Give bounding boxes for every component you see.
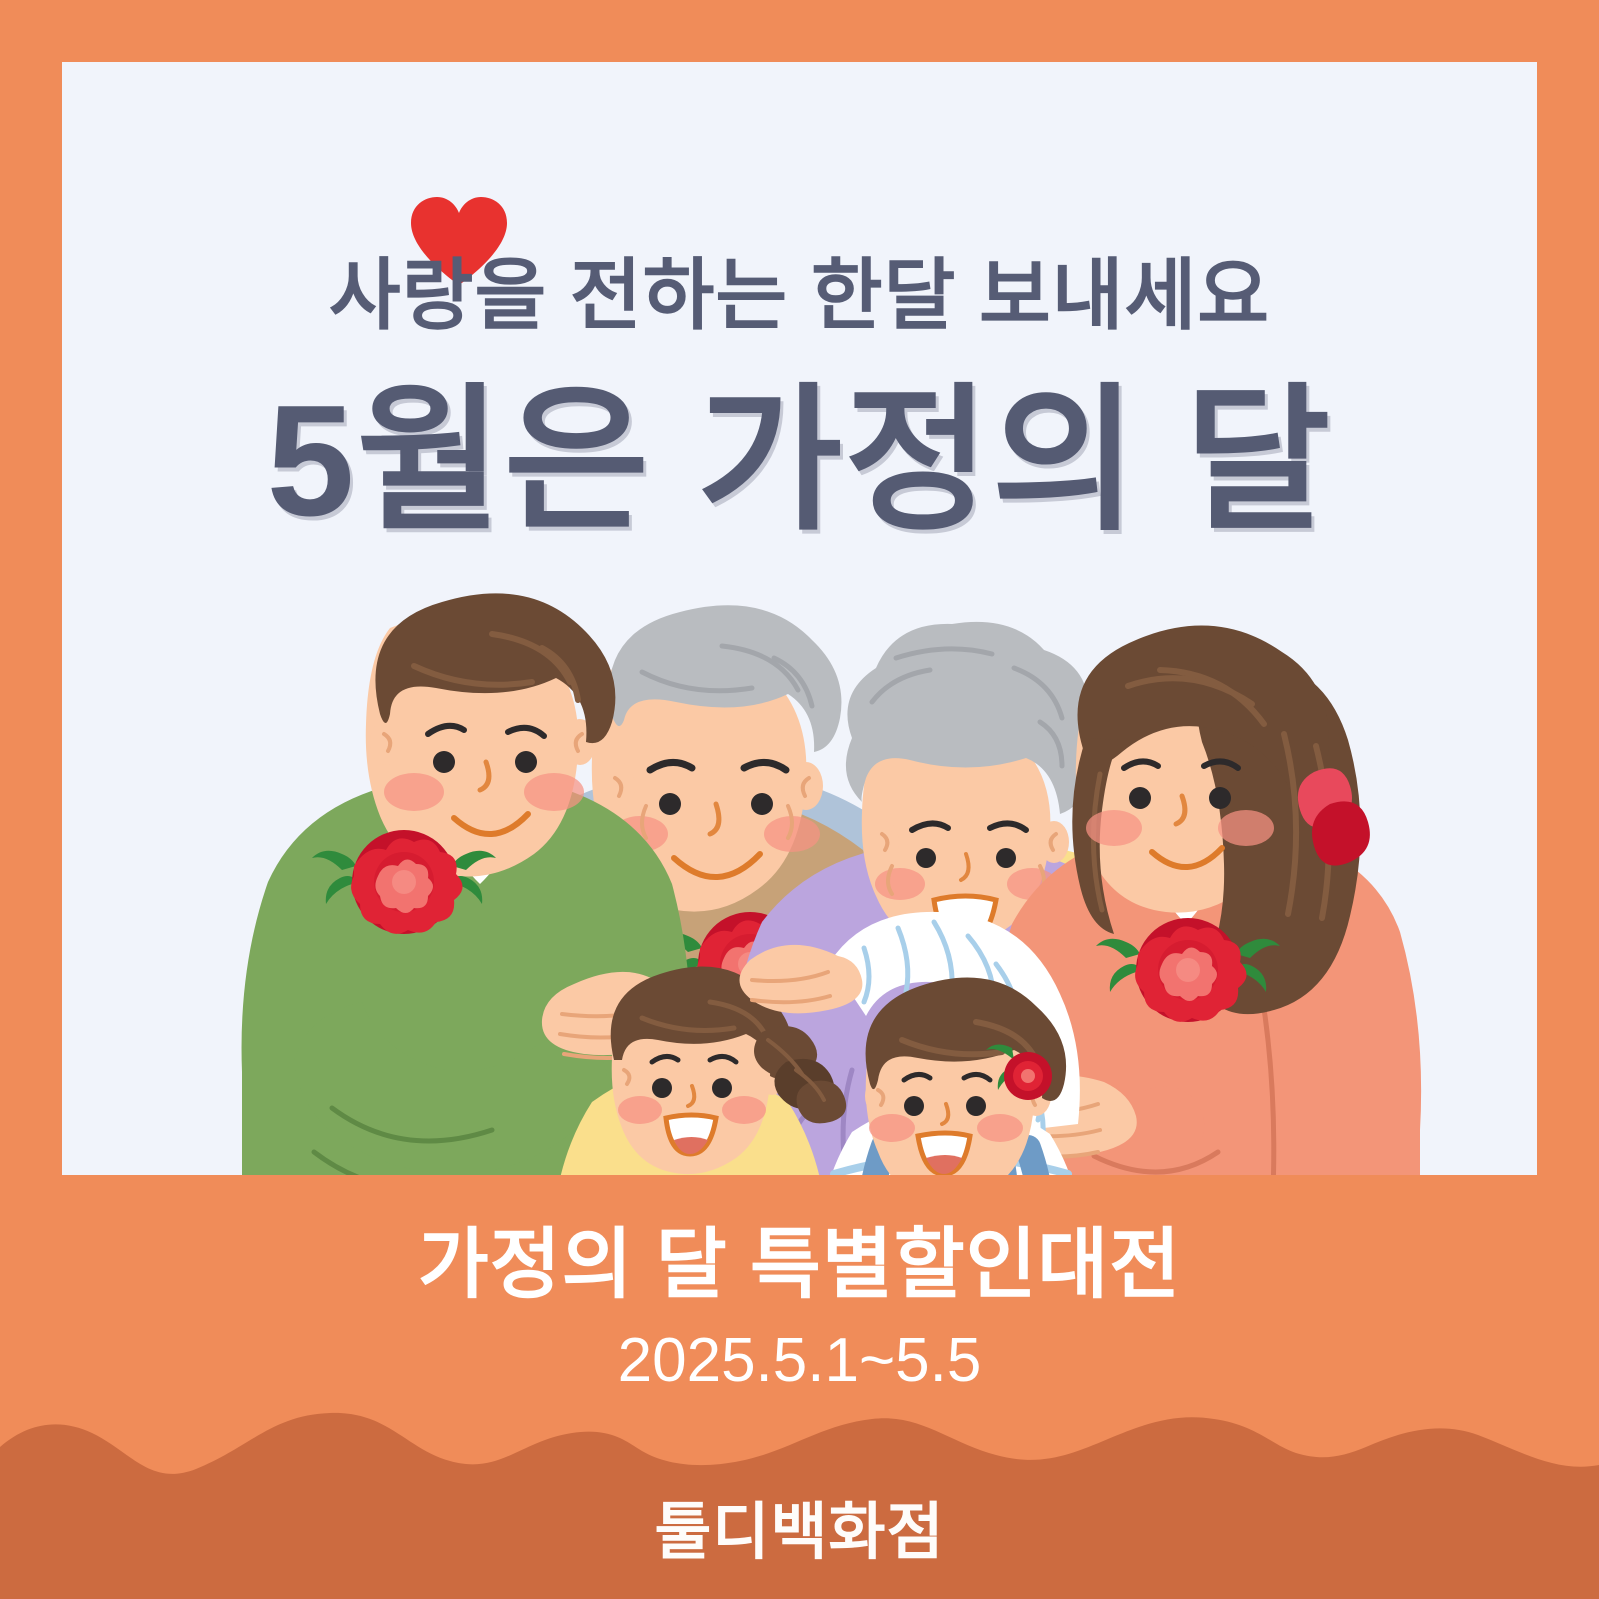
brand-name: 툴디백화점 [0,1481,1599,1571]
page-title: 5월은 가정의 달 [62,382,1537,540]
footer-band: 툴디백화점 [0,1399,1599,1599]
promo-dates: 2025.5.1~5.5 [0,1325,1599,1396]
poster-root: 사랑을 전하는 한달 보내세요 5월은 가정의 달 가정의 달 특별할인대전 2… [0,0,1599,1599]
subtitle: 사랑을 전하는 한달 보내세요 [62,256,1537,334]
promo-title: 가정의 달 특별할인대전 [0,1203,1599,1314]
family-illustration [62,62,1537,1175]
content-card: 사랑을 전하는 한달 보내세요 5월은 가정의 달 [62,62,1537,1175]
